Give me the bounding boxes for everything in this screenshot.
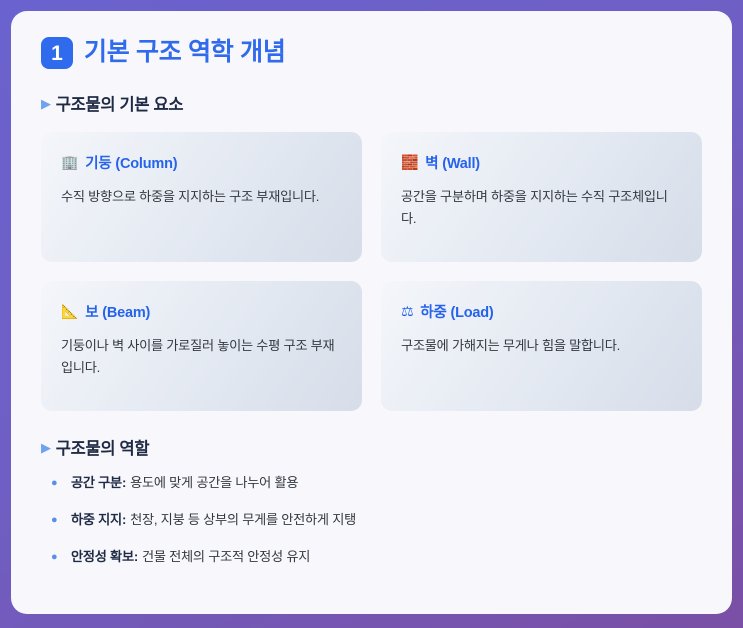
role-label: 안정성 확보: [71,547,138,567]
card-title-row: 📐 보 (Beam) [61,301,342,322]
triangular-ruler-icon: 📐 [61,305,78,319]
role-label: 하중 지지: [71,510,126,530]
step-number-badge: 1 [41,37,73,69]
list-item: ● 안정성 확보: 건물 전체의 구조적 안정성 유지 [41,547,702,567]
role-text: 건물 전체의 구조적 안정성 유지 [142,547,310,567]
content-card: 1 기본 구조 역학 개념 ▶ 구조물의 기본 요소 🏢 기둥 (Column)… [11,11,732,614]
card-description: 구조물에 가해지는 무게나 힘을 말합니다. [401,335,682,357]
bullet-icon: ● [41,515,71,526]
bullet-icon: ● [41,478,71,489]
building-icon: 🏢 [61,156,78,170]
elements-section-heading: ▶ 구조물의 기본 요소 [41,91,702,115]
card-description: 수직 방향으로 하중을 지지하는 구조 부재입니다. [61,186,342,208]
concept-card-wall[interactable]: 🧱 벽 (Wall) 공간을 구분하며 하중을 지지하는 수직 구조체입니다. [381,132,702,262]
bullet-icon: ● [41,552,71,563]
card-title-label: 기둥 (Column) [85,152,177,173]
triangle-right-icon: ▶ [41,441,51,454]
card-title-label: 보 (Beam) [85,301,150,322]
role-text: 용도에 맞게 공간을 나누어 활용 [130,473,298,493]
card-title-row: 🏢 기둥 (Column) [61,152,342,173]
concept-card-column[interactable]: 🏢 기둥 (Column) 수직 방향으로 하중을 지지하는 구조 부재입니다. [41,132,362,262]
roles-section-heading: ▶ 구조물의 역할 [41,435,702,459]
card-title-label: 하중 (Load) [420,301,493,322]
role-label: 공간 구분: [71,473,126,493]
concept-card-beam[interactable]: 📐 보 (Beam) 기둥이나 벽 사이를 가로질러 놓이는 수평 구조 부재입… [41,281,362,411]
list-item: ● 공간 구분: 용도에 맞게 공간을 나누어 활용 [41,473,702,493]
concept-card-grid: 🏢 기둥 (Column) 수직 방향으로 하중을 지지하는 구조 부재입니다.… [41,132,702,411]
roles-heading-label: 구조물의 역할 [56,435,150,459]
triangle-right-icon: ▶ [41,97,51,110]
brick-wall-icon: 🧱 [401,156,418,170]
card-title-row: 🧱 벽 (Wall) [401,152,682,173]
concept-card-load[interactable]: ⚖ 하중 (Load) 구조물에 가해지는 무게나 힘을 말합니다. [381,281,702,411]
page-header: 1 기본 구조 역학 개념 [41,37,702,69]
roles-list: ● 공간 구분: 용도에 맞게 공간을 나누어 활용 ● 하중 지지: 천장, … [41,473,702,566]
card-title-label: 벽 (Wall) [425,152,480,173]
card-title-row: ⚖ 하중 (Load) [401,301,682,322]
card-description: 공간을 구분하며 하중을 지지하는 수직 구조체입니다. [401,186,682,230]
list-item: ● 하중 지지: 천장, 지붕 등 상부의 무게를 안전하게 지탱 [41,510,702,530]
card-description: 기둥이나 벽 사이를 가로질러 놓이는 수평 구조 부재입니다. [61,335,342,379]
page-title: 기본 구조 역학 개념 [84,39,286,67]
elements-heading-label: 구조물의 기본 요소 [56,91,184,115]
balance-scale-icon: ⚖ [401,305,413,319]
role-text: 천장, 지붕 등 상부의 무게를 안전하게 지탱 [130,510,356,530]
outer-frame: 1 기본 구조 역학 개념 ▶ 구조물의 기본 요소 🏢 기둥 (Column)… [0,0,743,628]
